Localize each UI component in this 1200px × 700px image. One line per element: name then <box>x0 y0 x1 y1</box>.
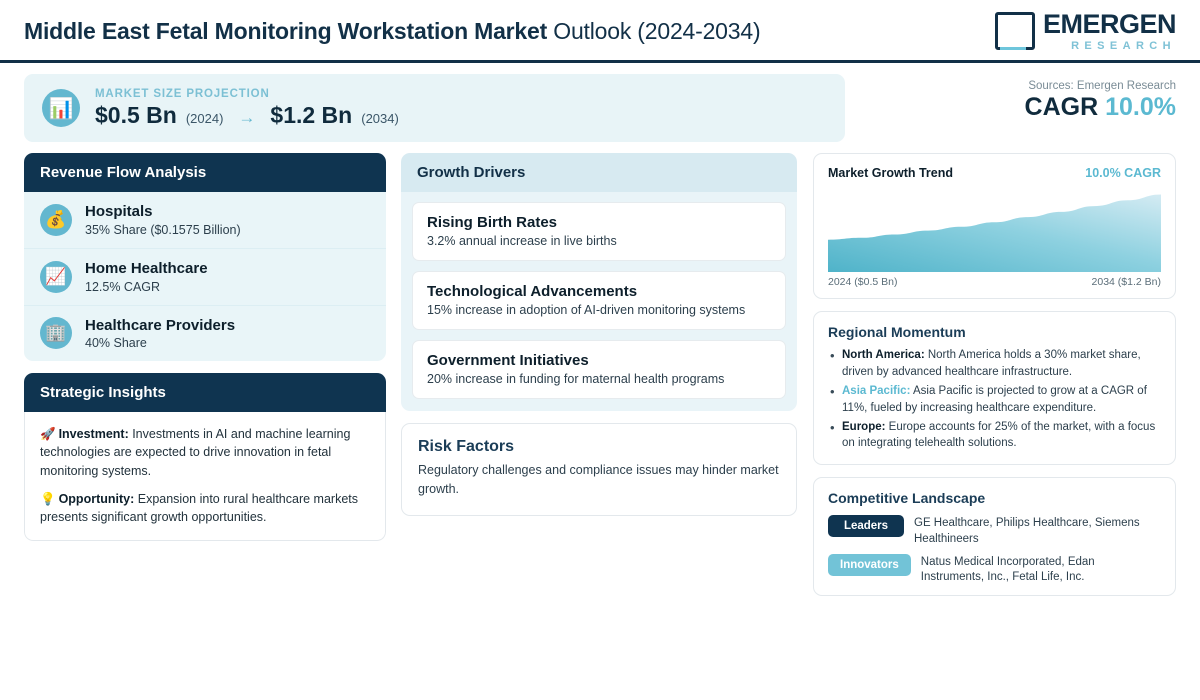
growth-driver-card[interactable]: Rising Birth Rates 3.2% annual increase … <box>412 202 786 261</box>
logo-square-icon <box>995 12 1035 50</box>
list-item-text: Hospitals 35% Share ($0.1575 Billion) <box>85 203 241 237</box>
growth-driver-card[interactable]: Government Initiatives 20% increase in f… <box>412 340 786 399</box>
revenue-flow-title: Revenue Flow Analysis <box>24 153 386 192</box>
base-value: $0.5 Bn <box>95 102 177 129</box>
list-item-detail: 40% Share <box>85 336 235 350</box>
emergen-research-logo: EMERGEN RESEARCH <box>995 11 1176 52</box>
revenue-flow-list: 💰 Hospitals 35% Share ($0.1575 Billion) … <box>24 192 386 361</box>
chart-increasing-icon: 📈 <box>40 261 72 293</box>
lightbulb-icon: 💡 <box>40 492 56 506</box>
list-item[interactable]: 💰 Hospitals 35% Share ($0.1575 Billion) <box>24 192 386 249</box>
insight-label: Opportunity: <box>59 492 135 506</box>
area-chart <box>828 188 1161 272</box>
innovators-names: Natus Medical Incorporated, Edan Instrum… <box>921 554 1161 586</box>
page-title-bold: Middle East Fetal Monitoring Workstation… <box>24 18 547 44</box>
chart-cagr-badge: 10.0% CAGR <box>1085 166 1161 180</box>
sources-text: Sources: Emergen Research <box>846 80 1176 92</box>
market-growth-trend-card: Market Growth Trend 10.0% CAGR 202 <box>813 153 1176 299</box>
bar-chart-icon: 📊 <box>42 89 80 127</box>
cagr-headline: CAGR 10.0% <box>846 93 1176 122</box>
list-item[interactable]: 📈 Home Healthcare 12.5% CAGR <box>24 249 386 306</box>
arrow-icon: → <box>232 108 261 128</box>
chart-axis-labels: 2024 ($0.5 Bn) 2034 ($1.2 Bn) <box>828 276 1161 288</box>
regional-momentum-list: North America: North America holds a 30%… <box>828 347 1161 452</box>
leaders-names: GE Healthcare, Philips Healthcare, Sieme… <box>914 515 1161 547</box>
regional-item: North America: North America holds a 30%… <box>828 347 1161 381</box>
forecast-value: $1.2 Bn <box>270 102 352 129</box>
growth-driver-desc: 15% increase in adoption of AI-driven mo… <box>427 303 771 317</box>
regional-item-label: Asia Pacific: <box>842 385 910 397</box>
logo-emergen-text: EMERGEN <box>1043 11 1176 38</box>
growth-driver-desc: 20% increase in funding for maternal hea… <box>427 372 771 386</box>
middle-column: Growth Drivers Rising Birth Rates 3.2% a… <box>401 153 797 516</box>
competitive-landscape-title: Competitive Landscape <box>828 490 1161 506</box>
banner-text: MARKET SIZE PROJECTION $0.5 Bn (2024) → … <box>95 88 399 129</box>
list-item-detail: 35% Share ($0.1575 Billion) <box>85 223 241 237</box>
regional-momentum-card: Regional Momentum North America: North A… <box>813 311 1176 465</box>
strategic-insights-panel: Strategic Insights 🚀Investment: Investme… <box>24 373 386 541</box>
competitive-group: Innovators Natus Medical Incorporated, E… <box>828 554 1161 586</box>
growth-driver-title: Government Initiatives <box>427 352 771 369</box>
revenue-flow-panel: Revenue Flow Analysis 💰 Hospitals 35% Sh… <box>24 153 386 361</box>
risk-factors-desc: Regulatory challenges and compliance iss… <box>418 461 780 499</box>
list-item-text: Healthcare Providers 40% Share <box>85 317 235 351</box>
base-year: (2024) <box>186 111 224 126</box>
list-item-title: Hospitals <box>85 203 241 222</box>
forecast-year: (2034) <box>361 111 399 126</box>
left-column: Revenue Flow Analysis 💰 Hospitals 35% Sh… <box>24 153 386 553</box>
cagr-value: 10.0% <box>1105 93 1176 121</box>
growth-driver-title: Rising Birth Rates <box>427 214 771 231</box>
page-header: Middle East Fetal Monitoring Workstation… <box>0 0 1200 62</box>
rocket-icon: 🚀 <box>40 427 56 441</box>
risk-factors-panel: Risk Factors Regulatory challenges and c… <box>401 423 797 516</box>
regional-item-label: North America: <box>842 349 925 361</box>
page-title: Middle East Fetal Monitoring Workstation… <box>24 18 760 45</box>
growth-driver-card[interactable]: Technological Advancements 15% increase … <box>412 271 786 330</box>
strategic-insights-body: 🚀Investment: Investments in AI and machi… <box>24 412 386 541</box>
chart-end-label: 2034 ($1.2 Bn) <box>1092 276 1161 288</box>
logo-wordmark: EMERGEN RESEARCH <box>1043 11 1176 52</box>
risk-factors-title: Risk Factors <box>418 438 780 456</box>
regional-item-text: Europe accounts for 25% of the market, w… <box>842 421 1155 450</box>
strategic-insights-title: Strategic Insights <box>24 373 386 412</box>
right-column: Market Growth Trend 10.0% CAGR 202 <box>813 153 1176 608</box>
header-divider <box>0 60 1200 63</box>
cagr-label: CAGR <box>1025 93 1099 121</box>
office-building-icon: 🏢 <box>40 317 72 349</box>
list-item-text: Home Healthcare 12.5% CAGR <box>85 260 208 294</box>
chart-title: Market Growth Trend <box>828 166 953 180</box>
competitive-group: Leaders GE Healthcare, Philips Healthcar… <box>828 515 1161 547</box>
insight-item: 🚀Investment: Investments in AI and machi… <box>40 425 370 479</box>
banner-values: $0.5 Bn (2024) → $1.2 Bn (2034) <box>95 102 399 129</box>
growth-driver-desc: 3.2% annual increase in live births <box>427 234 771 248</box>
growth-drivers-panel: Growth Drivers Rising Birth Rates 3.2% a… <box>401 153 797 411</box>
regional-item-label: Europe: <box>842 421 885 433</box>
regional-item: Asia Pacific: Asia Pacific is projected … <box>828 383 1161 417</box>
area-chart-svg <box>828 188 1161 272</box>
regional-item: Europe: Europe accounts for 25% of the m… <box>828 419 1161 453</box>
page-title-rest: Outlook (2024-2034) <box>547 18 760 44</box>
cagr-block: Sources: Emergen Research CAGR 10.0% <box>846 80 1176 122</box>
insight-item: 💡Opportunity: Expansion into rural healt… <box>40 490 370 526</box>
competitive-landscape-card: Competitive Landscape Leaders GE Healthc… <box>813 477 1176 596</box>
chart-header: Market Growth Trend 10.0% CAGR <box>828 166 1161 180</box>
list-item-title: Healthcare Providers <box>85 317 235 336</box>
innovators-badge: Innovators <box>828 554 911 576</box>
growth-driver-title: Technological Advancements <box>427 283 771 300</box>
insight-label: Investment: <box>59 427 129 441</box>
growth-drivers-title: Growth Drivers <box>401 153 797 192</box>
market-size-banner: 📊 MARKET SIZE PROJECTION $0.5 Bn (2024) … <box>24 74 845 142</box>
leaders-badge: Leaders <box>828 515 904 537</box>
banner-label: MARKET SIZE PROJECTION <box>95 88 399 100</box>
list-item[interactable]: 🏢 Healthcare Providers 40% Share <box>24 306 386 362</box>
money-bag-icon: 💰 <box>40 204 72 236</box>
logo-research-text: RESEARCH <box>1043 41 1176 52</box>
regional-momentum-title: Regional Momentum <box>828 324 1161 340</box>
chart-start-label: 2024 ($0.5 Bn) <box>828 276 897 288</box>
infographic-page: Middle East Fetal Monitoring Workstation… <box>0 0 1200 700</box>
growth-drivers-list: Rising Birth Rates 3.2% annual increase … <box>401 192 797 411</box>
list-item-detail: 12.5% CAGR <box>85 280 208 294</box>
list-item-title: Home Healthcare <box>85 260 208 279</box>
